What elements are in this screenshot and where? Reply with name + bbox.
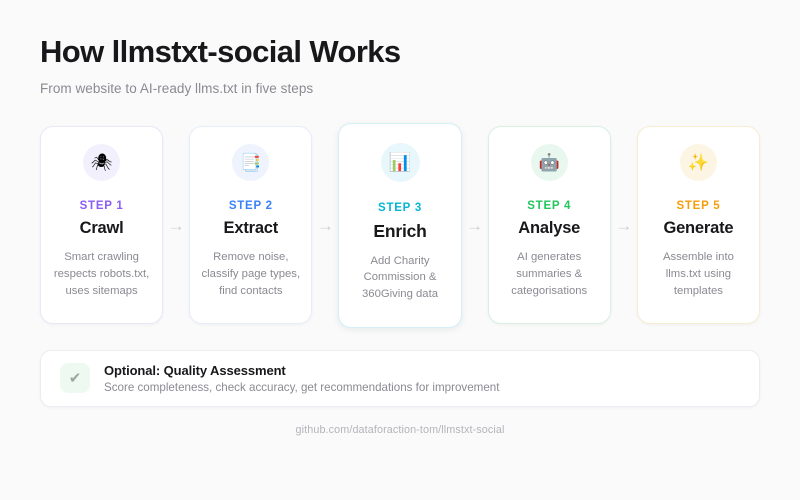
step-title-2: Extract xyxy=(224,219,279,238)
banner-title: Optional: Quality Assessment xyxy=(104,363,499,378)
step-description-4: AI generates summaries & categorisations xyxy=(500,249,599,299)
step-description-3: Add Charity Commission & 360Giving data xyxy=(350,253,449,303)
step-title-5: Generate xyxy=(663,219,733,238)
step-card-3[interactable]: 📊STEP 3EnrichAdd Charity Commission & 36… xyxy=(338,123,461,328)
step-title-3: Enrich xyxy=(373,221,426,242)
page-root: How llmstxt-social Works From website to… xyxy=(0,0,800,500)
step-title-1: Crawl xyxy=(80,219,124,238)
step-title-4: Analyse xyxy=(518,219,580,238)
step-card-2[interactable]: 📑STEP 2ExtractRemove noise, classify pag… xyxy=(189,126,312,324)
footer-repo-link[interactable]: github.com/dataforaction-tom/llmstxt-soc… xyxy=(40,424,760,436)
optional-quality-banner: ✔ Optional: Quality Assessment Score com… xyxy=(40,350,760,407)
banner-subtitle: Score completeness, check accuracy, get … xyxy=(104,381,499,394)
step-label-4: STEP 4 xyxy=(527,200,571,212)
arrow-connector-4: → xyxy=(611,217,637,234)
page-header: How llmstxt-social Works From website to… xyxy=(40,34,760,96)
step-card-1[interactable]: 🕷STEP 1CrawlSmart crawling respects robo… xyxy=(40,126,163,324)
steps-flow: 🕷STEP 1CrawlSmart crawling respects robo… xyxy=(40,123,760,328)
page-subtitle: From website to AI-ready llms.txt in fiv… xyxy=(40,81,760,96)
step-label-5: STEP 5 xyxy=(676,200,720,212)
sparkles-icon: ✨ xyxy=(680,144,717,181)
arrow-connector-3: → xyxy=(462,217,488,234)
step-label-1: STEP 1 xyxy=(80,200,124,212)
step-label-3: STEP 3 xyxy=(378,202,422,214)
step-card-4[interactable]: 🤖STEP 4AnalyseAI generates summaries & c… xyxy=(488,126,611,324)
check-mark-icon: ✔ xyxy=(60,363,90,393)
clipboard-document-icon: 📑 xyxy=(232,144,269,181)
step-card-5[interactable]: ✨STEP 5GenerateAssemble into llms.txt us… xyxy=(637,126,760,324)
spider-icon: 🕷 xyxy=(83,144,120,181)
arrow-connector-2: → xyxy=(312,217,338,234)
step-description-5: Assemble into llms.txt using templates xyxy=(649,249,748,299)
step-label-2: STEP 2 xyxy=(229,200,273,212)
arrow-connector-1: → xyxy=(163,217,189,234)
bar-chart-icon: 📊 xyxy=(381,143,420,182)
step-description-2: Remove noise, classify page types, find … xyxy=(201,249,300,299)
robot-icon: 🤖 xyxy=(531,144,568,181)
step-description-1: Smart crawling respects robots.txt, uses… xyxy=(52,249,151,299)
page-title: How llmstxt-social Works xyxy=(40,34,760,70)
banner-text-group: Optional: Quality Assessment Score compl… xyxy=(104,363,499,394)
